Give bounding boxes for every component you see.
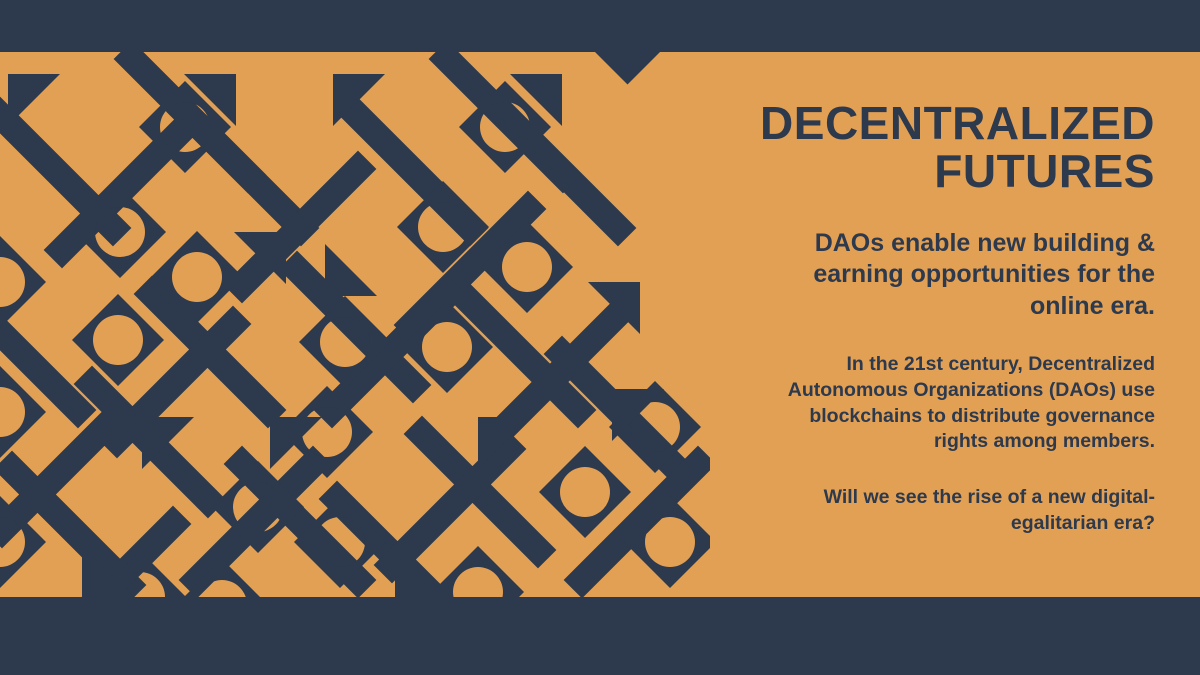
- blockchain-link-pattern-svg: [0, 52, 710, 597]
- page-title: DECENTRALIZED FUTURES: [755, 52, 1155, 196]
- body-paragraph-1: In the 21st century, Decentralized Auton…: [755, 322, 1155, 455]
- body-paragraph-2: Will we see the rise of a new digital-eg…: [755, 455, 1155, 536]
- footer-bar: LEARN HOW TO DAO AT : www.howtodao.xyz: [0, 597, 1200, 675]
- top-border-notch: [595, 52, 660, 86]
- poster-canvas: DECENTRALIZED FUTURES DAOs enable new bu…: [0, 0, 1200, 675]
- text-column: DECENTRALIZED FUTURES DAOs enable new bu…: [755, 52, 1155, 537]
- subheadline: DAOs enable new building & earning oppor…: [755, 196, 1155, 323]
- decorative-pattern: [0, 52, 710, 597]
